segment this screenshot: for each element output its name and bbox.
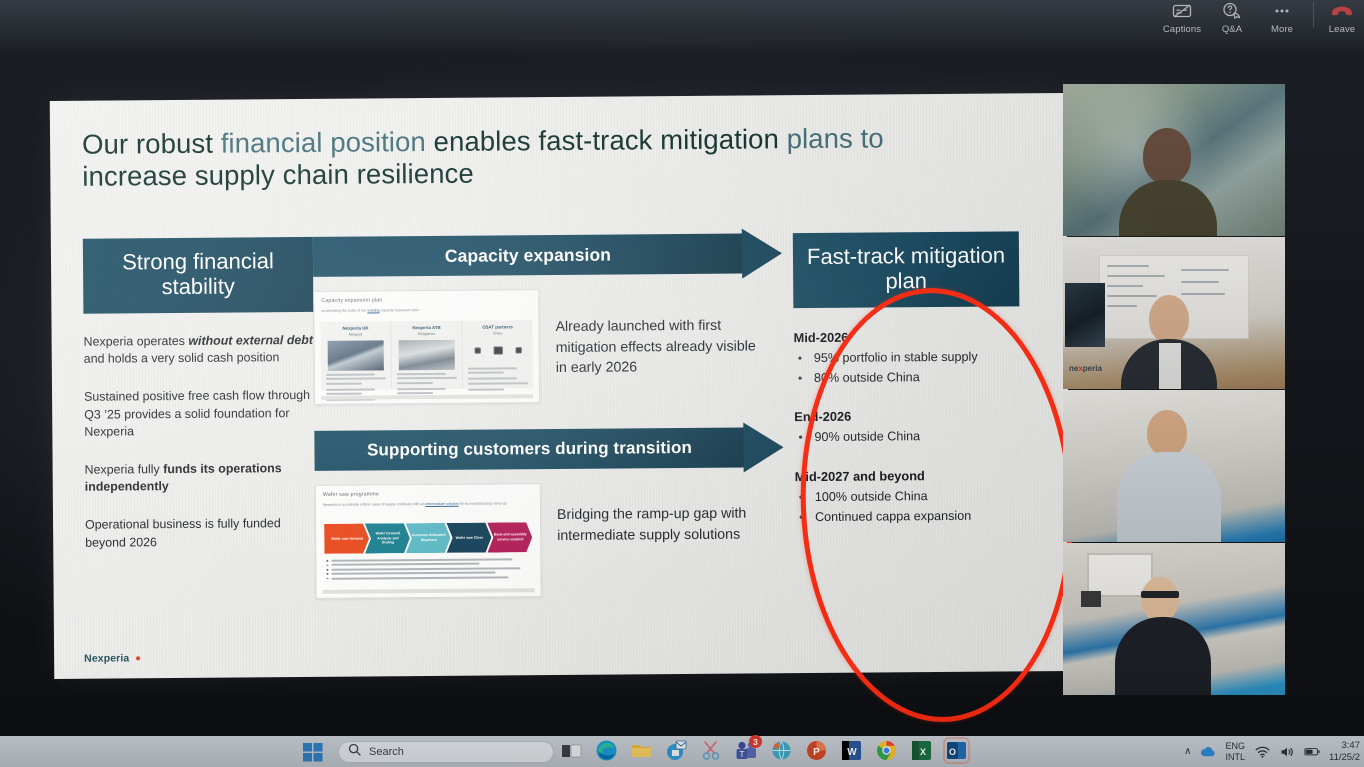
slide-footer: Nexperia: [84, 652, 140, 664]
battery-icon[interactable]: [1304, 744, 1320, 760]
slide-title-part-4: fast-track mitigation: [538, 123, 786, 156]
qa-icon: [1222, 1, 1242, 21]
powerpoint-icon[interactable]: P: [805, 739, 828, 762]
screen-photo: Captions Q&A More Leave Our robust finan…: [0, 0, 1364, 767]
snipping-tool-icon[interactable]: [700, 739, 723, 762]
svg-text:O: O: [949, 747, 956, 757]
footer-brand: Nexperia: [84, 652, 129, 664]
right-column: Fast-track mitigation plan Mid-2026 • 95…: [793, 231, 1021, 548]
qa-label: Q&A: [1222, 24, 1242, 35]
participant-tile-3[interactable]: [1063, 390, 1285, 542]
wafer-step-5: Back-end assembly service enabled: [487, 522, 532, 552]
thumb1-panel: Nexperia UK Newport: [320, 320, 533, 390]
svg-text:P: P: [813, 747, 820, 758]
thumb1-col3-text: [468, 367, 528, 390]
leave-button[interactable]: Leave: [1320, 0, 1364, 35]
svg-text:X: X: [920, 747, 926, 757]
video-participant-rail: nexperia: [1063, 84, 1285, 695]
supporting-row: Wafer saw programme Nexperia to accelera…: [315, 481, 796, 599]
thumb1-footer: [321, 394, 533, 400]
settings-globe-icon[interactable]: [770, 739, 793, 762]
tray-date: 11/25/2: [1329, 752, 1360, 763]
volume-icon[interactable]: [1279, 744, 1295, 760]
captions-off-icon: [1172, 1, 1192, 21]
milestone-heading: Mid-2026: [794, 328, 1020, 345]
thumb2-sub-pre: Nexperia to accelerate critical cases of…: [323, 502, 426, 507]
milestone-heading: Mid-2027 and beyond: [795, 467, 1021, 484]
captions-label: Captions: [1163, 24, 1201, 35]
milestone-bullet: • 100% outside China: [795, 487, 1021, 506]
svg-text:W: W: [847, 747, 857, 758]
teams-meeting-toolbar: Captions Q&A More Leave: [1157, 0, 1364, 46]
slide-title-part-5: plans to: [787, 122, 884, 154]
file-explorer-icon[interactable]: [630, 739, 653, 762]
thumb1-title: Capacity expansion plan: [321, 297, 382, 303]
brand-dot-icon: [136, 656, 140, 660]
leave-label: Leave: [1329, 24, 1355, 35]
milestone-bullet-text: 100% outside China: [815, 488, 928, 506]
taskbar-app-icons: T 3 P W X O: [560, 739, 968, 762]
thumb1-col2-text: [397, 373, 457, 394]
bullet-dot-icon: •: [798, 350, 808, 367]
chrome-icon[interactable]: [875, 739, 898, 762]
wafer-saw-flow: Wafer saw demand Wafer Demand Analysis a…: [324, 522, 532, 554]
milestone-bullet-text: 95% portfolio in stable supply: [814, 348, 978, 367]
capacity-expansion-thumbnail[interactable]: Capacity expansion plan accelerating the…: [313, 289, 540, 405]
bullet-dot-icon: •: [798, 370, 808, 387]
tray-overflow-chevron-icon[interactable]: ∧: [1184, 746, 1191, 757]
qa-button[interactable]: Q&A: [1207, 0, 1257, 35]
thumb1-col2-sub: Philippines: [397, 332, 457, 336]
left-p1-post: and holds a very solid cash position: [84, 351, 280, 367]
onedrive-icon[interactable]: [1200, 744, 1216, 760]
thumb1-col3-chips: [468, 335, 528, 365]
thumb1-subtitle: accelerating the scale of our existing c…: [321, 307, 530, 314]
wafer-step-1: Wafer saw demand: [324, 524, 369, 554]
more-button[interactable]: More: [1257, 0, 1307, 35]
left-column-header: Strong financial stability: [83, 237, 314, 314]
language-line-1: ENG: [1225, 741, 1245, 751]
svg-text:T: T: [740, 750, 745, 759]
milestone-group-mid-2027: Mid-2027 and beyond • 100% outside China…: [795, 467, 1021, 527]
left-p3-pre: Nexperia fully: [85, 462, 164, 477]
thumb2-sub-post: for its manufacturing ramp-up: [459, 501, 507, 505]
thumb2-footer: [323, 588, 535, 594]
microsoft-edge-icon[interactable]: [595, 739, 618, 762]
wafer-saw-thumbnail[interactable]: Wafer saw programme Nexperia to accelera…: [315, 483, 542, 599]
thumb1-col1-photo: [328, 341, 384, 371]
task-view-icon[interactable]: [560, 739, 583, 762]
thumb1-col2-heading: Nexperia ATB: [397, 325, 457, 332]
thumb1-col-1: Nexperia UK Newport: [320, 321, 391, 390]
bullet-dot-icon: •: [799, 509, 809, 526]
captions-button[interactable]: Captions: [1157, 0, 1207, 35]
wafer-saw-bullets: [326, 558, 532, 582]
supporting-customers-note: Bridging the ramp-up gap with intermedia…: [557, 481, 768, 597]
chip-icon: [474, 348, 480, 354]
left-p1-emphasis: without external debt: [188, 333, 313, 348]
thumb2-title: Wafer saw programme: [323, 491, 379, 497]
wifi-icon[interactable]: [1254, 744, 1270, 760]
bullet-dot-icon: •: [799, 489, 809, 506]
left-column-body: Nexperia operates without external debt …: [84, 332, 316, 552]
projected-slide: Our robust financial position enables fa…: [50, 93, 1071, 679]
thumb1-columns: Nexperia UK Newport: [320, 320, 533, 390]
left-paragraph-2: Sustained positive free cash flow throug…: [84, 387, 314, 442]
thumb2-subtitle: Nexperia to accelerate critical cases of…: [323, 501, 532, 508]
milestone-group-mid-2026: Mid-2026 • 95% portfolio in stable suppl…: [794, 328, 1020, 388]
thumb1-col1-heading: Nexperia UK: [326, 325, 386, 332]
slide-title-part-2: financial position: [221, 126, 434, 159]
wafer-step-2: Wafer Demand Analysis and Scaling: [365, 523, 410, 553]
more-label: More: [1271, 24, 1293, 35]
tray-time: 3:47: [1342, 740, 1361, 751]
milestone-heading: End-2026: [794, 408, 1020, 425]
wafer-step-4: Wafer saw Close: [446, 523, 491, 553]
thumb1-col3-heading: OSAT partners: [468, 324, 528, 331]
more-ellipsis-icon: [1272, 1, 1292, 21]
participant-tile-4[interactable]: [1063, 543, 1285, 695]
slide-title: Our robust financial position enables fa…: [82, 122, 982, 193]
milestone-bullet: • 95% portfolio in stable supply: [794, 348, 1020, 367]
thumb2-sub-link: intermediate solution: [425, 502, 458, 506]
left-paragraph-1: Nexperia operates without external debt …: [84, 332, 314, 369]
outlook-mail-icon[interactable]: [665, 739, 688, 762]
milestone-bullet: • Continued cappa expansion: [795, 508, 1021, 527]
toolbar-divider: [1313, 2, 1314, 28]
milestone-bullet-text: 90% outside China: [814, 429, 920, 447]
thumb1-col1-sub: Newport: [326, 333, 386, 337]
milestone-bullet-text: Continued cappa expansion: [815, 508, 971, 527]
microsoft-teams-icon[interactable]: T 3: [735, 739, 758, 762]
left-p1-pre: Nexperia operates: [84, 334, 189, 349]
slide-title-part-3: enables: [433, 125, 538, 157]
search-icon: [348, 743, 361, 761]
arrow-head-icon: [742, 228, 782, 278]
supporting-customers-label: Supporting customers during transition: [314, 428, 744, 471]
hang-up-icon: [1330, 1, 1354, 21]
slide-title-part-1: Our robust: [82, 128, 221, 160]
milestone-bullet: • 80% outside China: [794, 368, 1020, 387]
chip-icon: [493, 347, 502, 355]
excel-icon[interactable]: X: [910, 739, 933, 762]
capacity-expansion-arrow: Capacity expansion: [313, 233, 793, 277]
slide-title-line-2: increase supply chain resilience: [82, 158, 474, 192]
search-input[interactable]: Search: [338, 741, 554, 763]
thumb1-col-3: OSAT partners China: [461, 320, 533, 389]
thumb1-col2-photo: [399, 340, 455, 370]
supporting-customers-arrow: Supporting customers during transition: [314, 427, 794, 471]
thumb1-sub-pre: accelerating the scale of our: [321, 309, 367, 313]
thumb1-col-2: Nexperia ATB Philippines: [390, 321, 462, 390]
left-paragraph-3: Nexperia fully funds its operations inde…: [85, 460, 315, 497]
windows-taskbar: Search T 3: [0, 736, 1364, 767]
language-line-2: INTL: [1225, 752, 1245, 762]
arrow-head-icon: [743, 422, 783, 472]
outlook-icon[interactable]: O: [945, 739, 968, 762]
slide-surface: Our robust financial position enables fa…: [50, 93, 1071, 679]
left-paragraph-4: Operational business is fully funded bey…: [85, 515, 315, 552]
language-indicator[interactable]: ENG INTL: [1225, 741, 1245, 761]
thumb1-sub-post: capacity expansion plan: [380, 308, 419, 312]
word-icon[interactable]: W: [840, 739, 863, 762]
middle-column: Capacity expansion Capacity expansion pl…: [313, 233, 796, 599]
participant-tile-1[interactable]: [1063, 84, 1285, 236]
right-column-header: Fast-track mitigation plan: [793, 231, 1020, 307]
right-column-body: Mid-2026 • 95% portfolio in stable suppl…: [794, 328, 1022, 527]
thumb1-sub-link: existing: [367, 308, 379, 312]
system-tray: ∧ ENG INTL 3:47 11/25/2: [1184, 736, 1360, 767]
bullet-dot-icon: •: [798, 430, 808, 447]
capacity-row: Capacity expansion plan accelerating the…: [313, 287, 794, 405]
search-placeholder-text: Search: [369, 746, 404, 758]
chip-icon: [515, 347, 521, 353]
teams-notification-badge: 3: [749, 735, 762, 748]
left-column: Strong financial stability Nexperia oper…: [83, 237, 316, 572]
capacity-expansion-note: Already launched with first mitigation e…: [555, 287, 766, 403]
capacity-expansion-label: Capacity expansion: [313, 234, 743, 277]
windows-start-icon[interactable]: [302, 742, 324, 762]
milestone-bullet: • 90% outside China: [794, 428, 1020, 447]
clock-and-date[interactable]: 3:47 11/25/2: [1329, 740, 1360, 762]
milestone-bullet-text: 80% outside China: [814, 369, 920, 387]
milestone-group-end-2026: End-2026 • 90% outside China: [794, 408, 1020, 447]
participant-tile-2[interactable]: nexperia: [1063, 237, 1285, 389]
wafer-step-3: Customer dedicated Shipment: [406, 523, 451, 553]
